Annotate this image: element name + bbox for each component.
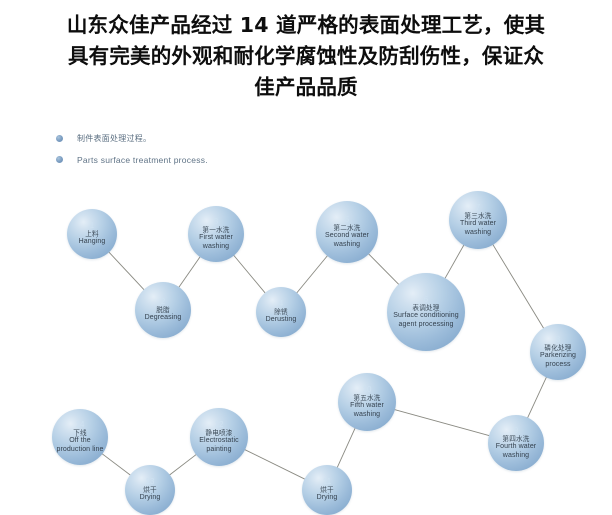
node-label-cn: 第二水洗 xyxy=(333,224,360,232)
node-number: 14 xyxy=(76,420,85,429)
legend-label-en: Parts surface treatment process. xyxy=(77,155,208,165)
node-label-cn: 第四水洗 xyxy=(502,435,529,443)
node-label-cn: 脱脂 xyxy=(156,306,170,314)
node-label-en: Drying xyxy=(139,494,162,502)
title-line-2: 具有完美的外观和耐化学腐蚀性及防刮伤性，保证众 xyxy=(16,41,596,72)
node-number: 7 xyxy=(476,203,480,212)
process-node-14[interactable]: 14下线Off the production line xyxy=(52,409,108,465)
process-node-10[interactable]: 10第五水洗Fifth water washing xyxy=(338,373,396,431)
title-line-3: 佳产品品质 xyxy=(16,72,596,103)
node-label-en: Electrostatic painting xyxy=(192,437,246,453)
node-label-en: Third water washing xyxy=(451,220,505,236)
node-label-en: First water washing xyxy=(190,234,242,250)
node-number: 10 xyxy=(363,385,372,394)
process-node-4[interactable]: 4除锈Derusting xyxy=(256,287,306,337)
process-node-11[interactable]: 11烘干Drying xyxy=(302,465,352,515)
node-label-cn: 第五水洗 xyxy=(353,394,380,402)
process-node-9[interactable]: 9第四水洗Fourth water washing xyxy=(488,415,544,471)
node-number: 8 xyxy=(556,335,560,344)
node-label-cn: 第三水洗 xyxy=(464,212,491,220)
process-node-13[interactable]: 13烘干Drying xyxy=(125,465,175,515)
process-node-5[interactable]: 5第二水洗Second water washing xyxy=(316,201,378,263)
node-label-en: Fourth water washing xyxy=(490,443,542,459)
title-line-1: 山东众佳产品经过 14 道严格的表面处理工艺，使其 xyxy=(16,10,596,41)
process-node-6[interactable]: 6表调处理Surface conditioning agent processi… xyxy=(387,273,465,351)
legend: 制件表面处理过程。 Parts surface treatment proces… xyxy=(56,130,356,172)
legend-item-en: Parts surface treatment process. xyxy=(56,151,356,168)
node-number: 5 xyxy=(345,215,349,224)
node-label-en: Hanging xyxy=(78,238,107,246)
process-node-3[interactable]: 3第一水洗First water washing xyxy=(188,206,244,262)
legend-label-cn: 制件表面处理过程。 xyxy=(77,133,151,144)
node-number: 6 xyxy=(424,295,428,304)
node-label-en: Surface conditioning agent processing xyxy=(389,312,463,328)
node-label-cn: 第一水洗 xyxy=(202,226,229,234)
node-label-cn: 静电喷漆 xyxy=(205,429,232,437)
node-label-en: Degreasing xyxy=(144,314,183,322)
node-label-cn: 除锈 xyxy=(274,308,288,316)
node-label-en: Drying xyxy=(316,494,339,502)
bullet-dot-icon xyxy=(56,156,63,163)
node-label-cn: 烘干 xyxy=(320,486,334,494)
flow-nodes: 1上料Hanging2脱脂Degreasing3第一水洗First water … xyxy=(0,172,612,500)
node-label-cn: 下线 xyxy=(73,429,87,437)
process-node-8[interactable]: 8磷化处理Parkerizing process xyxy=(530,324,586,380)
node-number: 3 xyxy=(214,217,218,226)
node-label-en: Second water washing xyxy=(318,232,376,248)
node-label-en: Derusting xyxy=(265,316,298,324)
node-label-cn: 表调处理 xyxy=(412,304,439,312)
process-node-1[interactable]: 1上料Hanging xyxy=(67,209,117,259)
bullet-dot-icon xyxy=(56,135,63,142)
node-number: 9 xyxy=(514,426,518,435)
process-node-12[interactable]: 12静电喷漆Electrostatic painting xyxy=(190,408,248,466)
node-label-en: Parkerizing process xyxy=(532,352,584,368)
process-flow-diagram: 1上料Hanging2脱脂Degreasing3第一水洗First water … xyxy=(0,172,612,500)
legend-item-cn: 制件表面处理过程。 xyxy=(56,130,356,147)
node-label-cn: 上料 xyxy=(85,230,99,238)
process-node-7[interactable]: 7第三水洗Third water washing xyxy=(449,191,507,249)
node-label-en: Fifth water washing xyxy=(340,402,394,418)
node-label-cn: 磷化处理 xyxy=(544,344,571,352)
node-number: 12 xyxy=(215,420,224,429)
page-title: 山东众佳产品经过 14 道严格的表面处理工艺，使其 具有完美的外观和耐化学腐蚀性… xyxy=(0,0,612,103)
node-label-cn: 烘干 xyxy=(143,486,157,494)
process-node-2[interactable]: 2脱脂Degreasing xyxy=(135,282,191,338)
node-label-en: Off the production line xyxy=(54,437,106,453)
